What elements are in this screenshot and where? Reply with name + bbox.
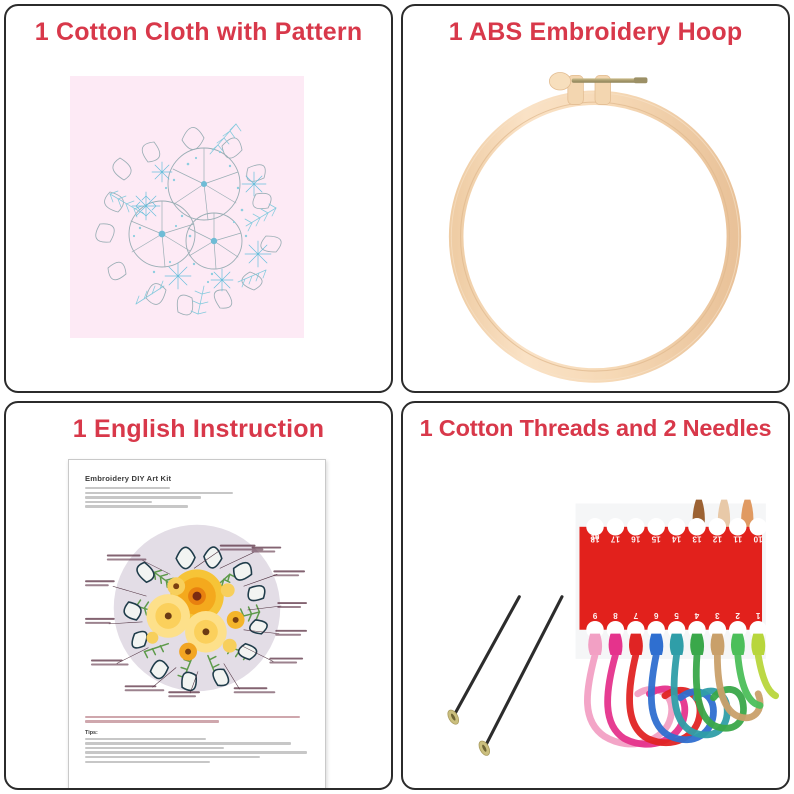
svg-text:17: 17 <box>610 535 620 544</box>
svg-text:1: 1 <box>755 611 760 620</box>
instruction-sheet-tips-label: Tips: <box>85 730 309 736</box>
instruction-sheet-tips-text <box>85 738 309 763</box>
panel-title-embroidery-hoop: 1 ABS Embroidery Hoop <box>403 18 788 47</box>
svg-text:10: 10 <box>753 535 763 544</box>
sewing-needles <box>446 597 562 757</box>
svg-text:2: 2 <box>735 611 740 620</box>
panel-body-cotton-cloth <box>6 56 391 391</box>
svg-text:15: 15 <box>651 535 661 544</box>
hoop-graphic <box>403 56 788 391</box>
instruction-sheet-diagram <box>85 512 309 708</box>
panel-title-cotton-cloth: 1 Cotton Cloth with Pattern <box>6 18 391 47</box>
product-infographic: 1 Cotton Cloth with Pattern <box>0 0 794 794</box>
svg-text:8: 8 <box>613 611 618 620</box>
panel-body-threads-needles: 18 18 17 16 15 14 13 12 11 10 <box>403 453 788 788</box>
threads-and-needles-image: 18 18 17 16 15 14 13 12 11 10 <box>403 453 788 788</box>
floral-pattern-graphic <box>70 76 304 338</box>
svg-text:16: 16 <box>631 535 641 544</box>
svg-text:5: 5 <box>674 611 679 620</box>
needle-2 <box>477 597 562 757</box>
panel-english-instruction: 1 English Instruction Embroidery DIY Art… <box>4 401 393 790</box>
cotton-cloth-swatch <box>70 76 304 338</box>
floss-strands <box>587 655 775 744</box>
embroidery-hoop-image <box>403 56 788 391</box>
panel-cotton-cloth: 1 Cotton Cloth with Pattern <box>4 4 393 393</box>
svg-text:18: 18 <box>590 535 600 544</box>
svg-text:13: 13 <box>692 535 702 544</box>
svg-text:9: 9 <box>592 611 597 620</box>
svg-text:12: 12 <box>712 535 722 544</box>
svg-text:4: 4 <box>694 611 699 620</box>
svg-text:7: 7 <box>633 611 638 620</box>
panel-title-english-instruction: 1 English Instruction <box>6 415 391 444</box>
instruction-sheet-note-text <box>85 716 309 723</box>
svg-text:14: 14 <box>672 535 682 544</box>
flower-diagram-graphic <box>85 512 309 708</box>
panel-body-embroidery-hoop <box>403 56 788 391</box>
svg-text:3: 3 <box>715 611 720 620</box>
needle-1 <box>446 597 520 726</box>
svg-text:11: 11 <box>733 535 742 544</box>
panel-body-english-instruction: Embroidery DIY Art Kit <box>6 453 391 788</box>
svg-text:6: 6 <box>653 611 658 620</box>
panel-embroidery-hoop: 1 ABS Embroidery Hoop <box>401 4 790 393</box>
panel-threads-needles: 1 Cotton Threads and 2 Needles <box>401 401 790 790</box>
thread-card: 18 18 17 16 15 14 13 12 11 10 <box>579 518 766 638</box>
threads-graphic: 18 18 17 16 15 14 13 12 11 10 <box>403 453 788 788</box>
instruction-sheet-heading: Embroidery DIY Art Kit <box>85 474 309 483</box>
instruction-sheet: Embroidery DIY Art Kit <box>68 459 326 790</box>
instruction-sheet-intro-text <box>85 487 309 508</box>
panel-title-threads-needles: 1 Cotton Threads and 2 Needles <box>403 415 788 442</box>
